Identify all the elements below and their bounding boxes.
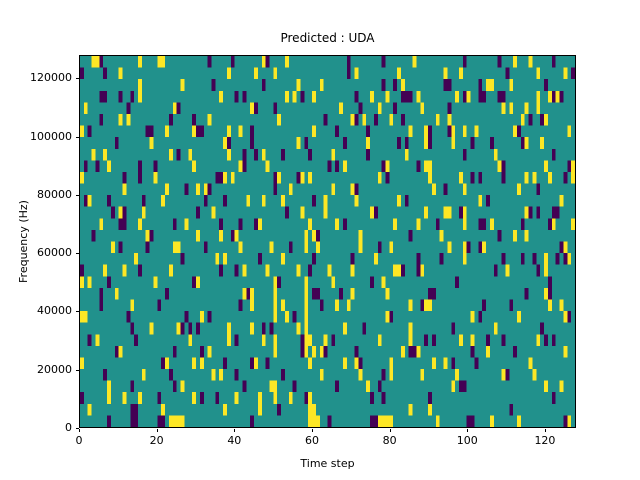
matplotlib-figure: Predicted : UDA Frequency (Hz) 020000400… bbox=[0, 0, 640, 480]
x-tick-mark bbox=[234, 429, 235, 433]
x-tick-mark bbox=[157, 429, 158, 433]
y-tick-label: 60000 bbox=[0, 247, 72, 258]
x-tick-label: 120 bbox=[515, 434, 575, 447]
y-tick-label: 20000 bbox=[0, 364, 72, 375]
x-tick-mark bbox=[312, 429, 313, 433]
y-tick-label: 80000 bbox=[0, 189, 72, 200]
heatmap-image bbox=[80, 56, 575, 427]
x-tick-label: 100 bbox=[437, 434, 497, 447]
heatmap-axes bbox=[79, 55, 576, 428]
x-tick-label: 60 bbox=[282, 434, 342, 447]
y-tick-label: 0 bbox=[0, 422, 72, 433]
y-tick-label: 100000 bbox=[0, 131, 72, 142]
x-tick-label: 0 bbox=[49, 434, 109, 447]
x-tick-mark bbox=[79, 429, 80, 433]
y-tick-label: 120000 bbox=[0, 72, 72, 83]
x-axis-label: Time step bbox=[79, 457, 576, 471]
page-title: Predicted : UDA bbox=[79, 31, 576, 45]
x-tick-mark bbox=[390, 429, 391, 433]
x-tick-label: 80 bbox=[360, 434, 420, 447]
x-tick-mark bbox=[467, 429, 468, 433]
y-tick-label: 40000 bbox=[0, 305, 72, 316]
x-tick-label: 20 bbox=[127, 434, 187, 447]
x-tick-label: 40 bbox=[204, 434, 264, 447]
x-tick-mark bbox=[545, 429, 546, 433]
